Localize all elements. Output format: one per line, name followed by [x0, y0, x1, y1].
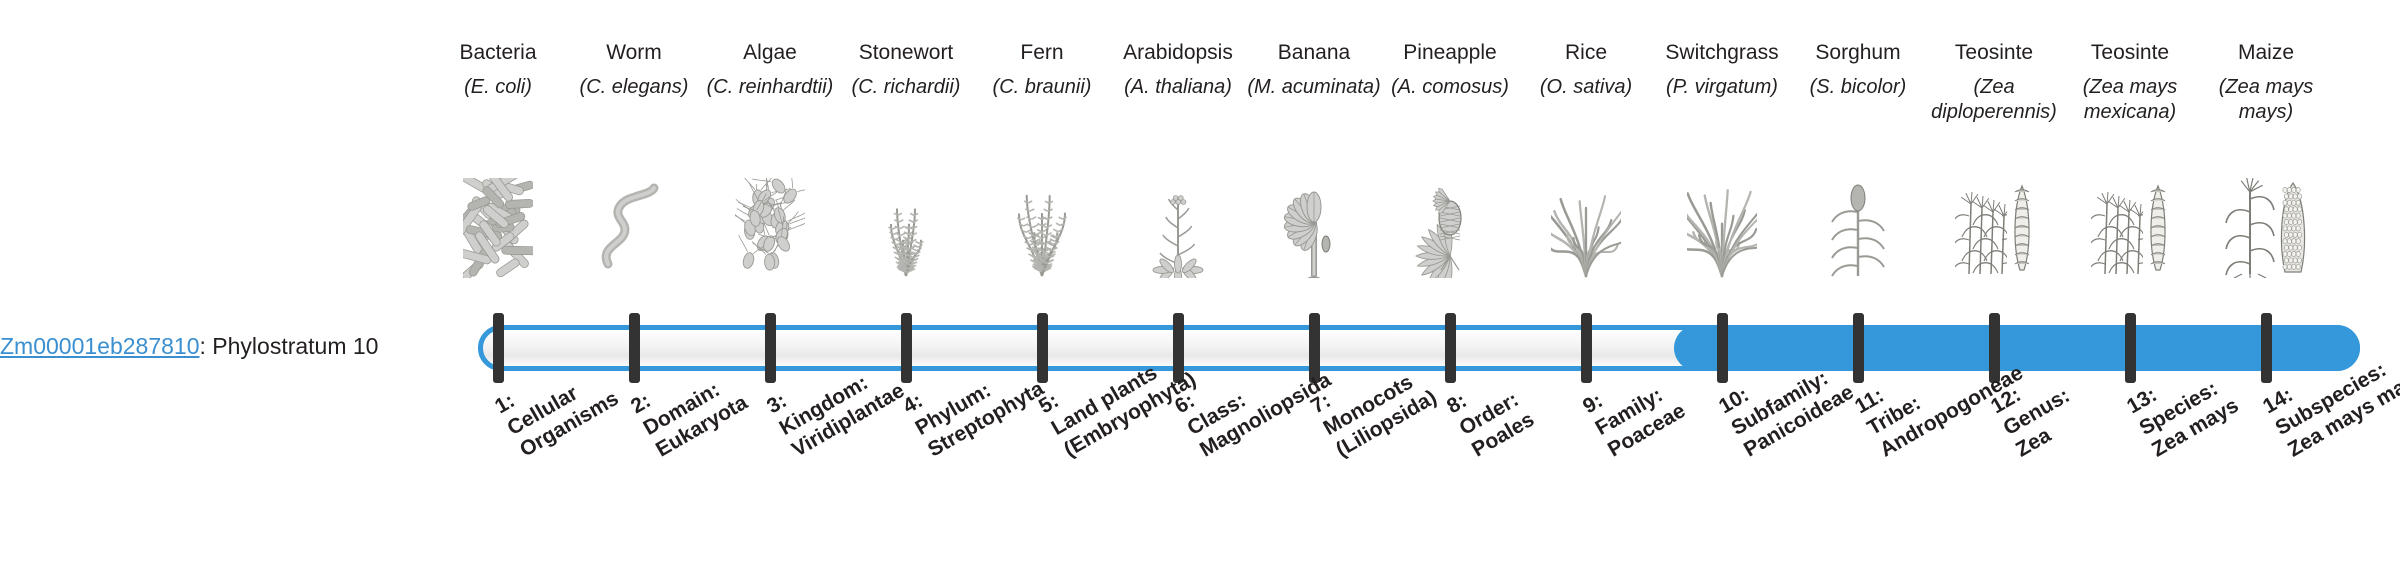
species-scientific-name: (P. virgatum)	[1654, 75, 1790, 100]
algae-illustration	[702, 168, 838, 278]
species-scientific-name: (M. acuminata)	[1246, 75, 1382, 100]
teosinte-pair-illustration	[1926, 168, 2062, 278]
species-common-name: Arabidopsis	[1110, 40, 1246, 66]
species-column-rice: Rice(O. sativa)	[1518, 40, 1654, 100]
maize-pair-illustration	[2198, 168, 2334, 278]
phylostratigraphy-chart: Zm00001eb287810: Phylostratum 10 Bacteri…	[0, 0, 2400, 580]
species-column-stonewort: Stonewort(C. richardii)	[838, 40, 974, 100]
sorghum-illustration	[1790, 168, 1926, 278]
species-common-name: Fern	[974, 40, 1110, 66]
species-scientific-name: (A. comosus)	[1382, 75, 1518, 100]
species-column-worm: Worm(C. elegans)	[566, 40, 702, 100]
gene-id-link[interactable]: Zm00001eb287810	[0, 333, 200, 359]
arabidopsis-illustration	[1110, 168, 1246, 278]
tick-stratum-1	[493, 313, 504, 383]
species-scientific-name: (C. braunii)	[974, 75, 1110, 100]
species-common-name: Worm	[566, 40, 702, 66]
species-column-banana: Banana(M. acuminata)	[1246, 40, 1382, 100]
species-common-name: Teosinte	[1926, 40, 2062, 66]
species-scientific-name: (A. thaliana)	[1110, 75, 1246, 100]
worm-illustration	[566, 168, 702, 278]
switchgrass-illustration	[1654, 168, 1790, 278]
species-common-name: Rice	[1518, 40, 1654, 66]
bacteria-illustration	[430, 168, 566, 278]
species-common-name: Algae	[702, 40, 838, 66]
pineapple-illustration	[1382, 168, 1518, 278]
species-common-name: Maize	[2198, 40, 2334, 66]
species-column-teosinte: Teosinte(Zea mays mexicana)	[2062, 40, 2198, 125]
species-column-switchgrass: Switchgrass(P. virgatum)	[1654, 40, 1790, 100]
phylostratum-text: Phylostratum 10	[212, 333, 378, 359]
species-scientific-name: (Zea mays mays)	[2198, 75, 2334, 125]
species-common-name: Bacteria	[430, 40, 566, 66]
species-scientific-name: (C. reinhardtii)	[702, 75, 838, 100]
teosinte-pair-illustration	[2062, 168, 2198, 278]
species-column-teosinte: Teosinte(Zea diploperennis)	[1926, 40, 2062, 125]
species-column-fern: Fern(C. braunii)	[974, 40, 1110, 100]
species-common-name: Banana	[1246, 40, 1382, 66]
species-column-pineapple: Pineapple(A. comosus)	[1382, 40, 1518, 100]
species-scientific-name: (S. bicolor)	[1790, 75, 1926, 100]
species-scientific-name: (C. elegans)	[566, 75, 702, 100]
species-scientific-name: (Zea diploperennis)	[1926, 75, 2062, 125]
species-common-name: Switchgrass	[1654, 40, 1790, 66]
rice-illustration	[1518, 168, 1654, 278]
species-common-name: Sorghum	[1790, 40, 1926, 66]
species-column-sorghum: Sorghum(S. bicolor)	[1790, 40, 1926, 100]
fern-illustration	[974, 168, 1110, 278]
species-scientific-name: (Zea mays mexicana)	[2062, 75, 2198, 125]
species-scientific-name: (C. richardii)	[838, 75, 974, 100]
stonewort-illustration	[838, 168, 974, 278]
gene-phylostratum-label: Zm00001eb287810: Phylostratum 10	[0, 332, 290, 360]
species-column-arabidopsis: Arabidopsis(A. thaliana)	[1110, 40, 1246, 100]
species-column-algae: Algae(C. reinhardtii)	[702, 40, 838, 100]
species-column-maize: Maize(Zea mays mays)	[2198, 40, 2334, 125]
species-common-name: Teosinte	[2062, 40, 2198, 66]
species-scientific-name: (O. sativa)	[1518, 75, 1654, 100]
species-column-bacteria: Bacteria(E. coli)	[430, 40, 566, 100]
banana-illustration	[1246, 168, 1382, 278]
species-scientific-name: (E. coli)	[430, 75, 566, 100]
species-common-name: Stonewort	[838, 40, 974, 66]
gene-label-separator: :	[200, 333, 213, 359]
species-common-name: Pineapple	[1382, 40, 1518, 66]
